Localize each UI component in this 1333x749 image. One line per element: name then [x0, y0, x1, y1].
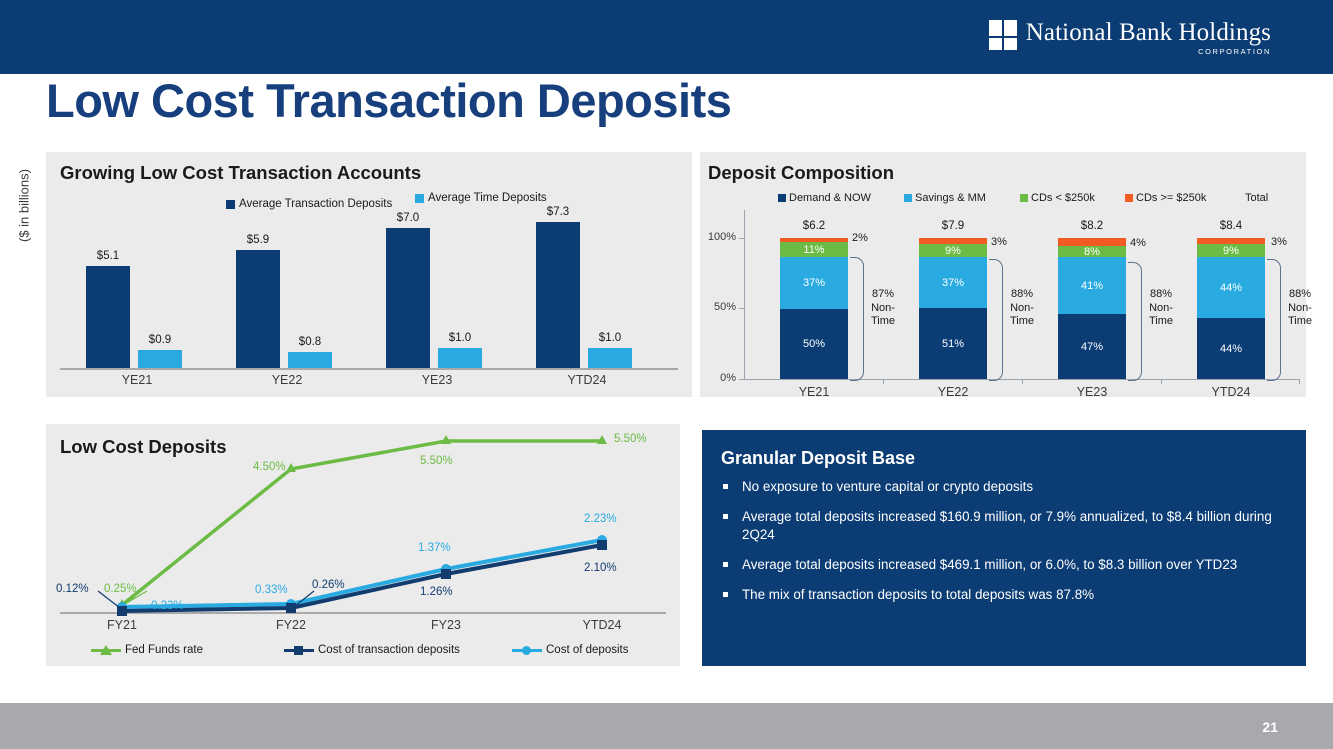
point-label-cost-transaction-fy23: 1.26%	[420, 586, 453, 598]
x-label-ye23: YE23	[362, 373, 512, 387]
stacked-bar-ye21: 11% 37% 50%	[780, 238, 848, 379]
x-label-ye21: YE21	[62, 373, 212, 387]
y-tick-mark-50	[739, 308, 744, 309]
bar-label-time-ye22: $0.8	[278, 336, 342, 348]
segment-savings-mm-ye22: 37%	[919, 257, 987, 308]
legend-label: CDs < $250k	[1031, 192, 1095, 204]
y-tick-mark-0	[739, 379, 744, 380]
x-tick-mark-4	[1299, 379, 1300, 384]
point-label-cost-deposits-fy21: 0.23%	[151, 600, 184, 612]
bullet-icon	[723, 562, 728, 567]
y-tick-label-100: 100%	[702, 231, 736, 243]
legend-label: CDs >= $250k	[1136, 192, 1206, 204]
segment-demand-now-ytd24: 44%	[1197, 318, 1265, 379]
chart-title-composition: Deposit Composition	[708, 162, 894, 184]
point-label-fed-funds-fy22: 4.50%	[253, 461, 286, 473]
header-bar: National Bank Holdings CORPORATION	[0, 0, 1333, 74]
segment-cds-under-250k-ye23: 8%	[1058, 246, 1126, 257]
legend-swatch-icon	[415, 194, 424, 203]
segment-demand-now-ye23: 47%	[1058, 314, 1126, 379]
y-tick-mark-100	[739, 238, 744, 239]
legend-label: Cost of transaction deposits	[318, 644, 460, 656]
legend-item-average-time-deposits: Average Time Deposits	[415, 192, 547, 204]
chart-title-accounts: Growing Low Cost Transaction Accounts	[60, 162, 421, 184]
point-label-cost-transaction-fy22: 0.26%	[312, 579, 345, 591]
legend-item-total: Total	[1245, 192, 1268, 204]
legend-item-savings-and-mm: Savings & MM	[904, 192, 986, 204]
legend-marker-square-icon	[284, 645, 314, 656]
bullet-icon	[723, 592, 728, 597]
x-label-ye23: YE23	[1058, 385, 1126, 399]
legend-label: Total	[1245, 192, 1268, 204]
point-label-cost-transaction-fy21: 0.12%	[56, 583, 89, 595]
legend-item-cost-of-deposits: Cost of deposits	[512, 644, 628, 656]
non-time-line2: Non-	[1010, 302, 1034, 314]
x-tick-mark-2	[1022, 379, 1023, 384]
segment-cds-under-250k-ytd24: 9%	[1197, 244, 1265, 257]
x-label-ytd24: YTD24	[512, 373, 662, 387]
top-pct-ye21: 2%	[852, 232, 868, 244]
segment-demand-now-ye22: 51%	[919, 308, 987, 379]
non-time-brace-ye21	[850, 257, 864, 381]
granular-bullet-list: No exposure to venture capital or crypto…	[721, 478, 1287, 616]
page-title: Low Cost Transaction Deposits	[46, 73, 731, 128]
bar-label-time-ye21: $0.9	[128, 334, 192, 346]
non-time-value: 88%	[1289, 288, 1311, 300]
legend-marker-circle-icon	[512, 645, 542, 656]
point-label-fed-funds-fy23: 5.50%	[420, 455, 453, 467]
panel-granular-deposit-base: Granular Deposit Base No exposure to ven…	[702, 430, 1306, 666]
bar-label-transaction-ye23: $7.0	[376, 212, 440, 224]
segment-savings-mm-ytd24: 44%	[1197, 257, 1265, 318]
x-label-ye21: YE21	[780, 385, 848, 399]
non-time-annotation-ytd24: 88% Non- Time	[1283, 288, 1317, 329]
bar-group-ye22: $5.9 $0.8	[226, 208, 376, 368]
y-axis-line-composition	[744, 210, 745, 379]
point-label-fed-funds-ytd24: 5.50%	[614, 433, 647, 445]
y-tick-label-50: 50%	[702, 301, 736, 313]
bar-group-ye21: $5.1 $0.9	[76, 208, 226, 368]
bullet-icon	[723, 484, 728, 489]
segment-cds-under-250k-ye22: 9%	[919, 244, 987, 257]
x-tick-mark-1	[883, 379, 884, 384]
non-time-value: 87%	[872, 288, 894, 300]
non-time-annotation-ye23: 88% Non- Time	[1144, 288, 1178, 329]
non-time-brace-ye22	[989, 259, 1003, 381]
legend-label: Fed Funds rate	[125, 644, 203, 656]
x-axis-line-accounts	[60, 368, 678, 370]
point-label-cost-deposits-ytd24: 2.23%	[584, 513, 617, 525]
legend-swatch-icon	[1020, 194, 1028, 202]
x-label-fy21: FY21	[77, 618, 167, 632]
stacked-bar-ye23: 8% 41% 47%	[1058, 238, 1126, 379]
top-pct-ye23: 4%	[1130, 237, 1146, 249]
y-tick-label-0: 0%	[702, 372, 736, 384]
legend-item-demand-and-now: Demand & NOW	[778, 192, 871, 204]
bar-transaction-deposits-ytd24	[536, 222, 580, 368]
list-item: Average total deposits increased $469.1 …	[721, 556, 1287, 574]
chart-low-cost-deposits: Low Cost Deposits 0.12% 0.25% 0.23% 4.50…	[46, 424, 680, 666]
legend-label: Cost of deposits	[546, 644, 628, 656]
point-label-fed-funds-fy21: 0.25%	[104, 583, 137, 595]
bar-transaction-deposits-ye21	[86, 266, 130, 368]
total-label-ye22: $7.9	[919, 220, 987, 232]
x-label-fy22: FY22	[246, 618, 336, 632]
list-item-text: No exposure to venture capital or crypto…	[742, 479, 1033, 494]
bar-label-transaction-ye21: $5.1	[76, 250, 140, 262]
footer-bar: 21	[0, 703, 1333, 749]
bar-label-time-ye23: $1.0	[428, 332, 492, 344]
bar-transaction-deposits-ye23	[386, 228, 430, 368]
x-label-fy23: FY23	[401, 618, 491, 632]
non-time-annotation-ye21: 87% Non- Time	[866, 288, 900, 329]
legend-marker-triangle-icon	[91, 645, 121, 656]
legend-label: Savings & MM	[915, 192, 986, 204]
bar-time-deposits-ye23	[438, 348, 482, 368]
bar-group-ytd24: $7.3 $1.0	[526, 208, 676, 368]
y-axis-caption: ($ in billions)	[17, 151, 32, 261]
legend-item-fed-funds-rate: Fed Funds rate	[91, 644, 203, 656]
point-label-cost-transaction-ytd24: 2.10%	[584, 562, 617, 574]
bar-time-deposits-ye22	[288, 352, 332, 368]
total-label-ye21: $6.2	[780, 220, 848, 232]
legend-label: Demand & NOW	[789, 192, 871, 204]
non-time-line3: Time	[871, 315, 895, 327]
legend-item-cds-under-250k: CDs < $250k	[1020, 192, 1095, 204]
bar-time-deposits-ytd24	[588, 348, 632, 368]
non-time-line2: Non-	[1288, 302, 1312, 314]
chart-growing-low-cost-transaction-accounts: Growing Low Cost Transaction Accounts Av…	[46, 152, 692, 397]
non-time-value: 88%	[1011, 288, 1033, 300]
x-label-ytd24: YTD24	[557, 618, 647, 632]
list-item: The mix of transaction deposits to total…	[721, 586, 1287, 604]
logo-mark-icon	[989, 20, 1019, 50]
non-time-line3: Time	[1149, 315, 1173, 327]
bullet-icon	[723, 514, 728, 519]
list-item-text: Average total deposits increased $160.9 …	[742, 509, 1272, 542]
bar-label-time-ytd24: $1.0	[578, 332, 642, 344]
legend-swatch-icon	[778, 194, 786, 202]
logo-company-sub: CORPORATION	[1026, 47, 1271, 56]
plot-area-accounts: $5.1 $0.9 $5.9 $0.8 $7.0 $1.0 $7.3 $1.0	[60, 208, 678, 368]
non-time-line3: Time	[1288, 315, 1312, 327]
non-time-annotation-ye22: 88% Non- Time	[1005, 288, 1039, 329]
non-time-brace-ytd24	[1267, 259, 1281, 381]
bar-group-ye23: $7.0 $1.0	[376, 208, 526, 368]
bar-label-transaction-ye22: $5.9	[226, 234, 290, 246]
segment-savings-mm-ye21: 37%	[780, 257, 848, 309]
segment-cds-under-250k-ye21: 11%	[780, 242, 848, 257]
top-pct-ye22: 3%	[991, 236, 1007, 248]
page-number: 21	[1262, 719, 1278, 735]
segment-savings-mm-ye23: 41%	[1058, 257, 1126, 314]
non-time-value: 88%	[1150, 288, 1172, 300]
non-time-line3: Time	[1010, 315, 1034, 327]
top-pct-ytd24: 3%	[1271, 236, 1287, 248]
stacked-bar-ytd24: 9% 44% 44%	[1197, 238, 1265, 379]
x-label-ye22: YE22	[919, 385, 987, 399]
stacked-bar-ye22: 9% 37% 51%	[919, 238, 987, 379]
point-label-cost-deposits-fy23: 1.37%	[418, 542, 451, 554]
total-label-ye23: $8.2	[1058, 220, 1126, 232]
legend-label: Average Time Deposits	[428, 192, 547, 204]
bar-label-transaction-ytd24: $7.3	[526, 206, 590, 218]
legend-swatch-icon	[1125, 194, 1133, 202]
non-time-line2: Non-	[871, 302, 895, 314]
legend-item-cost-of-transaction-deposits: Cost of transaction deposits	[284, 644, 460, 656]
bar-transaction-deposits-ye22	[236, 250, 280, 368]
x-label-ytd24: YTD24	[1197, 385, 1265, 399]
x-tick-mark-3	[1161, 379, 1162, 384]
company-logo: National Bank Holdings CORPORATION	[989, 19, 1271, 56]
list-item: No exposure to venture capital or crypto…	[721, 478, 1287, 496]
logo-company-name: National Bank Holdings	[1026, 19, 1271, 46]
non-time-line2: Non-	[1149, 302, 1173, 314]
legend-item-cds-over-250k: CDs >= $250k	[1125, 192, 1206, 204]
x-label-ye22: YE22	[212, 373, 362, 387]
point-label-cost-deposits-fy22: 0.33%	[255, 584, 288, 596]
granular-title: Granular Deposit Base	[721, 448, 915, 469]
legend-swatch-icon	[904, 194, 912, 202]
list-item-text: Average total deposits increased $469.1 …	[742, 557, 1237, 572]
segment-demand-now-ye21: 50%	[780, 309, 848, 379]
list-item: Average total deposits increased $160.9 …	[721, 508, 1287, 544]
list-item-text: The mix of transaction deposits to total…	[742, 587, 1094, 602]
bar-time-deposits-ye21	[138, 350, 182, 368]
total-label-ytd24: $8.4	[1197, 220, 1265, 232]
chart-deposit-composition: Deposit Composition Demand & NOW Savings…	[700, 152, 1306, 397]
non-time-brace-ye23	[1128, 262, 1142, 381]
